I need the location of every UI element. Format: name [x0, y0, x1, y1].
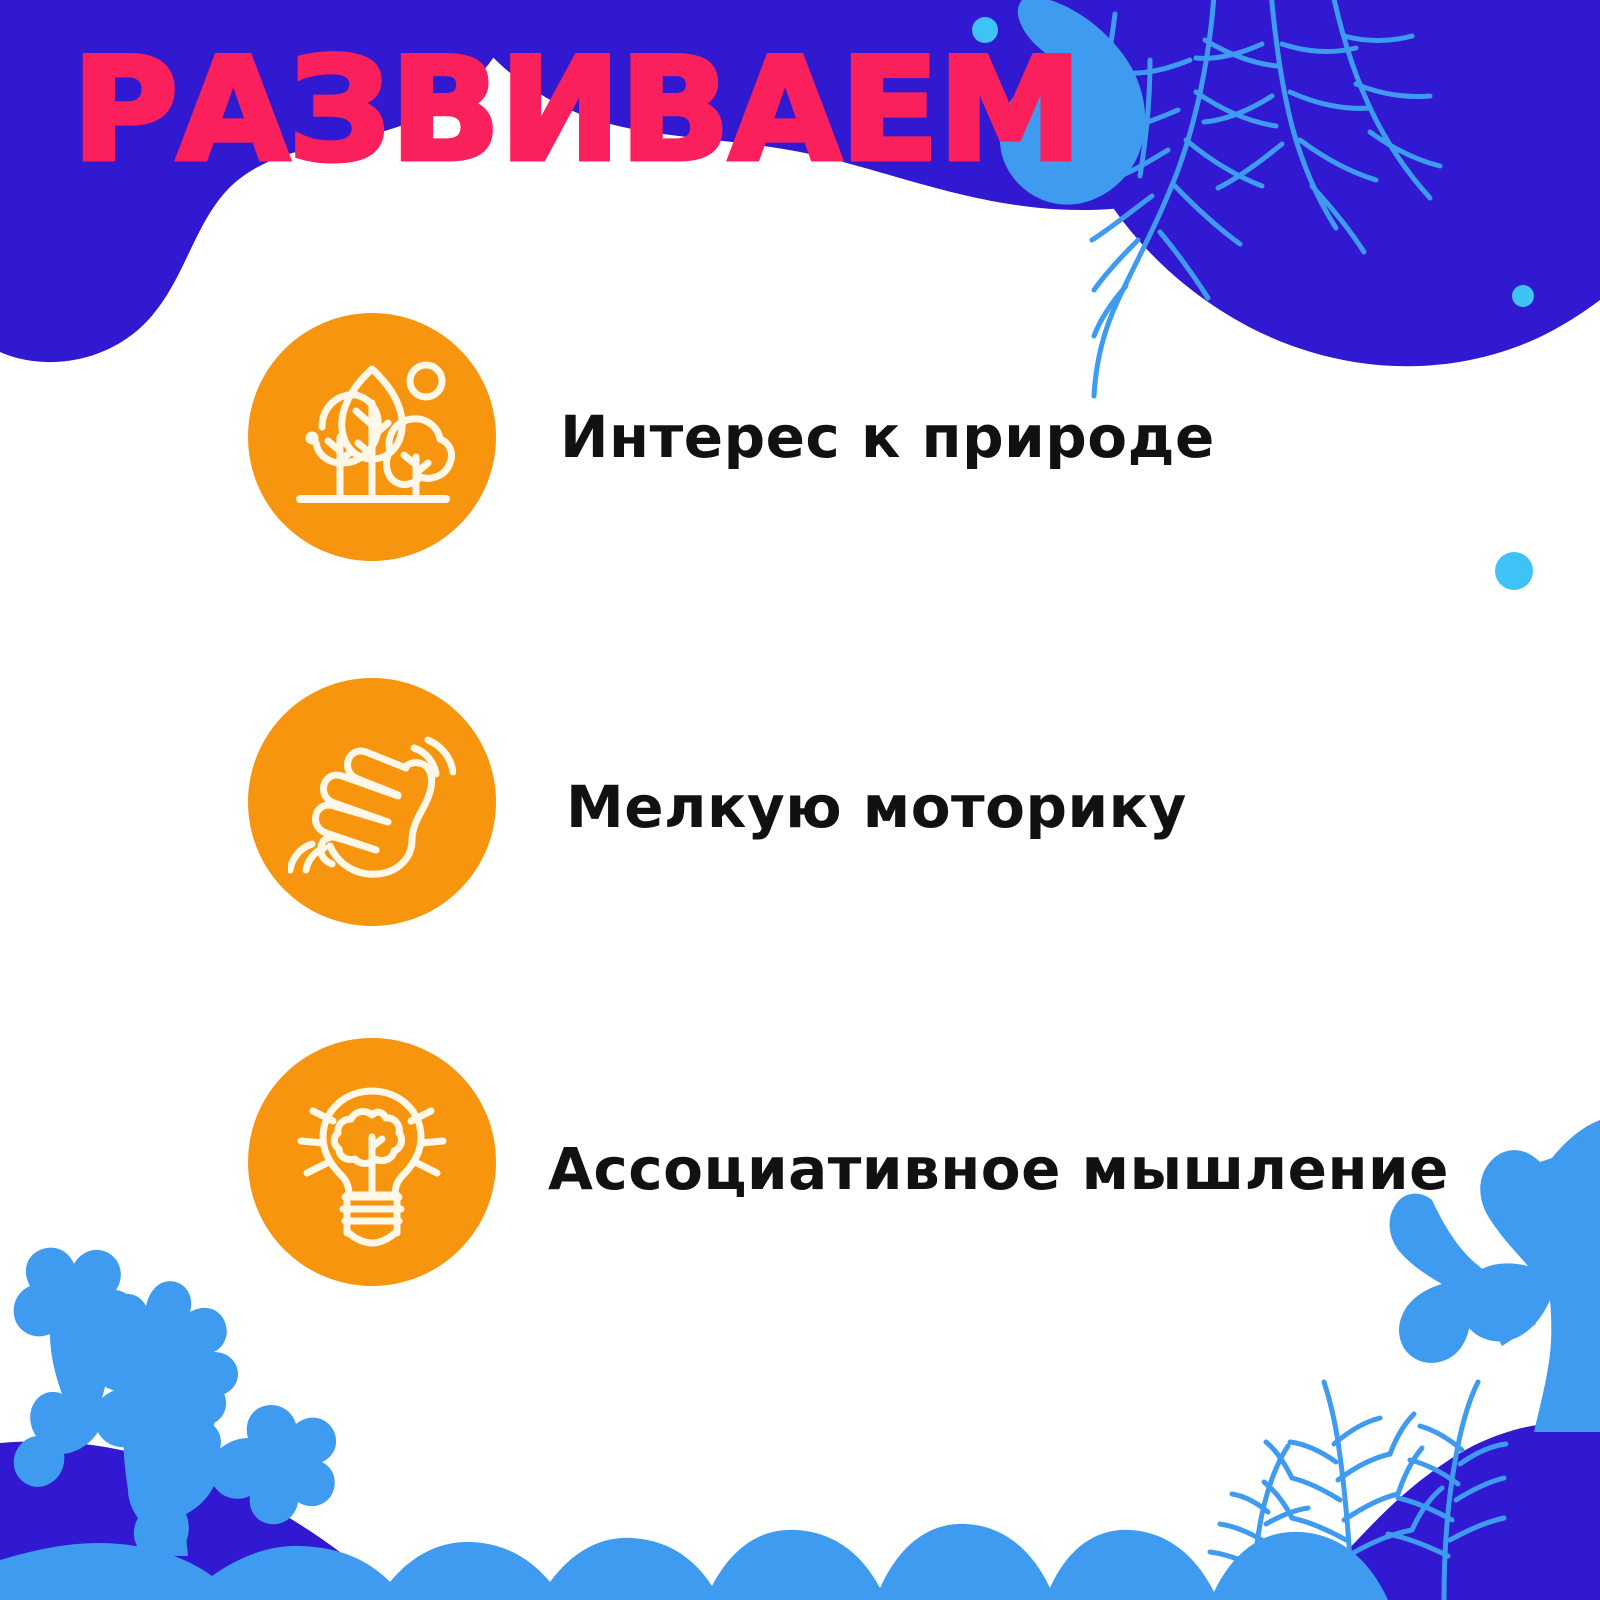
waving-hand-icon: [248, 678, 496, 926]
list-item-label: Ассоциативное мышление: [548, 1138, 1449, 1200]
list-item-label: Интерес к природе: [560, 406, 1215, 468]
forest-trees-icon: [248, 313, 496, 561]
lightbulb-brain-icon: [248, 1038, 496, 1286]
list-item-label: Мелкую моторику: [566, 776, 1187, 838]
list-item[interactable]: Интерес к природе: [248, 313, 1215, 561]
list-item[interactable]: Ассоциативное мышление: [248, 1038, 1449, 1286]
feature-list: Интерес к природе: [0, 0, 1600, 1600]
poster-canvas: РАЗВИВАЕМ: [0, 0, 1600, 1600]
list-item[interactable]: Мелкую моторику: [248, 678, 1187, 926]
sun-circle-icon: [410, 365, 442, 397]
